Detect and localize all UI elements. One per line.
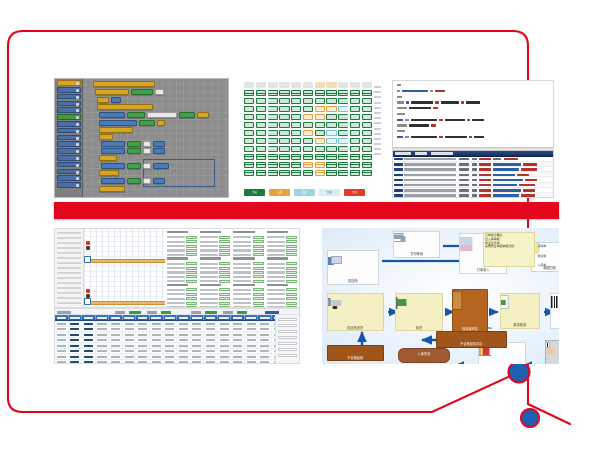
code-block-0[interactable] (93, 81, 155, 87)
palette-block-14[interactable] (57, 175, 81, 181)
table-cell (82, 349, 96, 354)
gantt-row-label-6 (57, 262, 81, 264)
location-cell-r0c6[interactable] (315, 82, 325, 88)
column-header-10[interactable] (191, 315, 205, 320)
detail-row (267, 280, 297, 283)
code-block-27[interactable] (127, 163, 141, 169)
location-cell-r0c4[interactable] (291, 82, 301, 88)
location-cell-r8c4[interactable] (291, 146, 301, 152)
flow-node-unload[interactable]: 卸货 (395, 293, 442, 331)
gantt-node-1[interactable] (84, 298, 91, 305)
location-cell-r1c7[interactable] (326, 90, 336, 96)
location-cell-r7c2[interactable] (268, 138, 278, 144)
location-cell-r7c5[interactable] (303, 138, 313, 144)
location-cell-r4c10[interactable] (362, 114, 372, 120)
blocks-canvas[interactable] (85, 79, 228, 197)
location-cell-r7c10[interactable] (362, 138, 372, 144)
palette-block-9[interactable] (57, 141, 81, 147)
legend-swatch-1: 占用 (269, 189, 290, 196)
column-header-0[interactable] (55, 315, 69, 320)
palette-block-5[interactable] (57, 114, 81, 120)
location-cell-r11c9[interactable] (350, 170, 360, 176)
code-block-17[interactable] (101, 141, 125, 147)
box-icon (452, 290, 464, 312)
truck-icon (327, 294, 346, 313)
location-cell-r2c0[interactable] (244, 98, 254, 104)
location-cell-r5c3[interactable] (279, 122, 289, 128)
code-block-4[interactable] (97, 97, 109, 103)
location-cell-r7c1[interactable] (256, 138, 266, 144)
toolbar-item-2 (129, 311, 141, 314)
location-cell-r3c7[interactable] (326, 106, 336, 112)
location-cell-r10c2[interactable] (268, 162, 278, 168)
gantt-row-label-13 (57, 297, 81, 299)
detail-group-title (200, 231, 221, 233)
code-block-11[interactable] (197, 112, 209, 118)
palette-block-7[interactable] (57, 128, 81, 134)
location-cell-r3c10[interactable] (362, 106, 372, 112)
location-cell-r1c5[interactable] (303, 90, 313, 96)
table-cell (123, 327, 137, 332)
location-cell-r6c5[interactable] (303, 130, 313, 136)
location-cell-r7c6[interactable] (315, 138, 325, 144)
location-cell-r9c2[interactable] (268, 154, 278, 160)
location-cell-r0c8[interactable] (338, 82, 348, 88)
location-cell-r8c1[interactable] (256, 146, 266, 152)
location-cell-r6c3[interactable] (279, 130, 289, 136)
location-cell-r2c9[interactable] (350, 98, 360, 104)
location-cell-r6c7[interactable] (326, 130, 336, 136)
location-cell-r7c3[interactable] (279, 138, 289, 144)
location-cell-r5c1[interactable] (256, 122, 266, 128)
scan-icon (545, 341, 559, 357)
detail-group-3[interactable] (267, 231, 297, 256)
grid-side-label-13 (374, 153, 387, 155)
location-cell-r1c4[interactable] (291, 90, 301, 96)
flow-node-done[interactable]: 入库完成 (398, 348, 450, 363)
location-cell-r2c5[interactable] (303, 98, 313, 104)
location-cell-r1c9[interactable] (350, 90, 360, 96)
location-cell-r11c5[interactable] (303, 170, 313, 176)
flow-node-label[interactable]: 打印粘贴标签 (550, 293, 559, 328)
palette-block-13[interactable] (57, 169, 81, 175)
grid-side-label-4 (374, 107, 387, 109)
grid-side-label-6 (374, 117, 387, 119)
grid-side-label-5 (374, 112, 387, 114)
code-block-35[interactable] (99, 186, 125, 192)
code-block-33[interactable] (143, 178, 151, 184)
code-block-23[interactable] (143, 148, 151, 154)
location-cell-r11c6[interactable] (315, 170, 325, 176)
flow-node-truck[interactable]: 供应商送货 (327, 293, 384, 331)
table-cell (96, 332, 110, 337)
flow-node-printer[interactable]: 打印条码 (393, 231, 440, 258)
column-header-6[interactable] (136, 315, 150, 320)
grid-side-label-2 (374, 96, 387, 98)
location-cell-r9c5[interactable] (303, 154, 313, 160)
location-cell-r8c10[interactable] (362, 146, 372, 152)
table-cell (55, 332, 69, 337)
table-action-button-6[interactable] (278, 354, 297, 357)
detail-group-8[interactable] (167, 284, 197, 308)
location-cell-r11c3[interactable] (279, 170, 289, 176)
detail-group-6[interactable] (233, 257, 263, 282)
location-cell-r11c7[interactable] (326, 170, 336, 176)
log-row[interactable] (393, 193, 553, 197)
location-cell-r9c6[interactable] (315, 154, 325, 160)
location-cell-r3c1[interactable] (256, 106, 266, 112)
location-cell-r9c3[interactable] (279, 154, 289, 160)
table-cell (231, 354, 245, 359)
location-cell-r6c4[interactable] (291, 130, 301, 136)
location-cell-r9c10[interactable] (362, 154, 372, 160)
table-action-button-3[interactable] (278, 336, 297, 339)
location-cell-r5c0[interactable] (244, 122, 254, 128)
code-block-2[interactable] (131, 89, 153, 95)
code-block-1[interactable] (95, 89, 129, 95)
palette-block-6[interactable] (57, 121, 81, 127)
location-cell-r5c10[interactable] (362, 122, 372, 128)
location-cell-r10c6[interactable] (315, 162, 325, 168)
location-cell-r0c3[interactable] (279, 82, 289, 88)
location-cell-r1c1[interactable] (256, 90, 266, 96)
location-cell-r7c4[interactable] (291, 138, 301, 144)
location-cell-r5c7[interactable] (326, 122, 336, 128)
location-cell-r10c0[interactable] (244, 162, 254, 168)
location-cell-r2c2[interactable] (268, 98, 278, 104)
gantt-row-label-0 (57, 232, 81, 234)
palette-block-3[interactable] (57, 101, 81, 107)
log-console-area[interactable] (393, 151, 553, 197)
log-header-seg-1 (415, 152, 427, 155)
location-cell-r11c2[interactable] (268, 170, 278, 176)
flow-node-inspect[interactable]: 检验操作区 (452, 289, 488, 333)
palette-block-11[interactable] (57, 155, 81, 161)
location-cell-r4c2[interactable] (268, 114, 278, 120)
column-header-1[interactable] (69, 315, 83, 320)
location-cell-r8c8[interactable] (338, 146, 348, 152)
column-header-9[interactable] (177, 315, 191, 320)
location-cell-r0c9[interactable] (350, 82, 360, 88)
location-cell-r7c7[interactable] (326, 138, 336, 144)
location-cells[interactable] (244, 82, 372, 176)
location-cell-r4c6[interactable] (315, 114, 325, 120)
column-header-4[interactable] (109, 315, 123, 320)
location-cell-r0c1[interactable] (256, 82, 266, 88)
table-body[interactable] (55, 321, 299, 364)
palette-block-1[interactable] (57, 87, 81, 93)
location-cell-r9c7[interactable] (326, 154, 336, 160)
location-cell-r1c8[interactable] (338, 90, 348, 96)
table-cell (258, 360, 272, 365)
table-action-button-1[interactable] (278, 324, 297, 327)
code-block-22[interactable] (127, 148, 141, 154)
column-header-14[interactable] (245, 315, 259, 320)
column-header-2[interactable] (82, 315, 96, 320)
palette-block-0[interactable] (57, 80, 81, 86)
code-block-20[interactable] (153, 141, 165, 147)
detail-row (167, 271, 197, 274)
legend-swatch-4: 禁用 (344, 189, 365, 196)
table-row[interactable] (55, 360, 299, 365)
location-cell-r0c7[interactable] (326, 82, 336, 88)
detail-group-5[interactable] (200, 257, 230, 282)
detail-group-7[interactable] (267, 257, 297, 282)
location-cell-r7c8[interactable] (338, 138, 348, 144)
column-header-3[interactable] (96, 315, 110, 320)
code-block-6[interactable] (97, 104, 153, 110)
code-block-10[interactable] (179, 112, 195, 118)
location-cell-r6c9[interactable] (350, 130, 360, 136)
location-cell-r2c8[interactable] (338, 98, 348, 104)
location-cell-r6c8[interactable] (338, 130, 348, 136)
code-block-13[interactable] (139, 120, 155, 126)
column-header-7[interactable] (150, 315, 164, 320)
location-cell-r11c8[interactable] (338, 170, 348, 176)
column-header-5[interactable] (123, 315, 137, 320)
location-cell-r5c5[interactable] (303, 122, 313, 128)
location-cell-r10c1[interactable] (256, 162, 266, 168)
location-cell-r10c10[interactable] (362, 162, 372, 168)
table-action-panel[interactable] (275, 315, 299, 363)
location-cell-r9c1[interactable] (256, 154, 266, 160)
location-cell-r4c8[interactable] (338, 114, 348, 120)
code-block-12[interactable] (99, 120, 137, 126)
location-cell-r8c3[interactable] (279, 146, 289, 152)
location-cell-r9c4[interactable] (291, 154, 301, 160)
code-block-29[interactable] (153, 163, 169, 169)
location-cell-r0c0[interactable] (244, 82, 254, 88)
location-cell-r10c9[interactable] (350, 162, 360, 168)
logistics-flowchart-screenshot[interactable]: 供应商打印条码订单录入单据归档供应商送货卸货检验操作区数量核验打印粘贴标签扫描录… (322, 228, 559, 364)
column-header-12[interactable] (218, 315, 232, 320)
location-cell-r8c2[interactable] (268, 146, 278, 152)
detail-group-2[interactable] (233, 231, 263, 256)
flow-node-supplier[interactable]: 供应商 (327, 250, 379, 285)
code-block-31[interactable] (101, 178, 125, 184)
location-cell-r6c2[interactable] (268, 130, 278, 136)
location-cell-r2c10[interactable] (362, 98, 372, 104)
gantt-node-0[interactable] (84, 256, 91, 263)
location-cell-r10c7[interactable] (326, 162, 336, 168)
location-cell-r10c3[interactable] (279, 162, 289, 168)
flow-node-label: 不合格品库 (328, 357, 383, 361)
blocks-editor-screenshot[interactable] (54, 78, 229, 198)
location-cell-r9c8[interactable] (338, 154, 348, 160)
detail-row (167, 293, 197, 296)
location-cell-r4c3[interactable] (279, 114, 289, 120)
location-cell-r2c7[interactable] (326, 98, 336, 104)
location-cell-r0c5[interactable] (303, 82, 313, 88)
location-cell-r11c10[interactable] (362, 170, 372, 176)
location-cell-r1c0[interactable] (244, 90, 254, 96)
location-cell-r2c6[interactable] (315, 98, 325, 104)
location-cell-r11c0[interactable] (244, 170, 254, 176)
palette-block-8[interactable] (57, 135, 81, 141)
code-block-9[interactable] (147, 112, 177, 118)
table-cell (123, 338, 137, 343)
palette-block-2[interactable] (57, 94, 81, 100)
detail-group-11[interactable] (267, 284, 297, 308)
location-cell-r8c0[interactable] (244, 146, 254, 152)
column-header-11[interactable] (204, 315, 218, 320)
location-cell-r3c5[interactable] (303, 106, 313, 112)
detail-group-9[interactable] (200, 284, 230, 308)
location-cell-r4c5[interactable] (303, 114, 313, 120)
location-cell-r9c0[interactable] (244, 154, 254, 160)
location-cell-r3c0[interactable] (244, 106, 254, 112)
location-cell-r3c6[interactable] (315, 106, 325, 112)
location-cell-r8c7[interactable] (326, 146, 336, 152)
inventory-table-screenshot[interactable] (54, 308, 300, 364)
location-cell-r5c8[interactable] (338, 122, 348, 128)
location-cell-r0c10[interactable] (362, 82, 372, 88)
location-cell-r7c0[interactable] (244, 138, 254, 144)
code-block-5[interactable] (111, 97, 121, 103)
detail-group-title (200, 257, 221, 259)
table-cell (109, 349, 123, 354)
location-cell-r8c9[interactable] (350, 146, 360, 152)
location-cell-r10c4[interactable] (291, 162, 301, 168)
code-block-25[interactable] (99, 155, 117, 161)
gantt-detail-board[interactable] (165, 229, 299, 307)
flow-annotation-0: NG (488, 326, 492, 330)
location-cell-r3c3[interactable] (279, 106, 289, 112)
table-cell (69, 321, 83, 326)
grid-side-label-3 (374, 102, 387, 104)
column-header-8[interactable] (164, 315, 178, 320)
location-cell-r8c6[interactable] (315, 146, 325, 152)
palette-block-4[interactable] (57, 107, 81, 113)
location-cell-r6c1[interactable] (256, 130, 266, 136)
location-cell-r8c5[interactable] (303, 146, 313, 152)
flow-node-scan[interactable]: 扫描录入 (545, 340, 559, 364)
location-grid-screenshot[interactable]: 空闲占用锁定预留禁用 (240, 80, 388, 198)
detail-row (167, 297, 197, 300)
code-block-30[interactable] (99, 170, 119, 176)
flow-node-reject_store[interactable]: 不合格品库 (327, 345, 384, 361)
flow-node-count[interactable]: 数量核验 (500, 293, 540, 328)
location-cell-r6c6[interactable] (315, 130, 325, 136)
code-block-26[interactable] (101, 163, 125, 169)
code-editor-area[interactable] (393, 81, 553, 148)
gantt-row-label-2 (57, 242, 81, 244)
detail-row (167, 288, 197, 291)
location-cell-r1c3[interactable] (279, 90, 289, 96)
table-cell (204, 321, 218, 326)
detail-row (267, 293, 297, 296)
blocks-palette[interactable] (55, 79, 83, 197)
table-action-button-2[interactable] (278, 330, 297, 333)
detail-group-1[interactable] (200, 231, 230, 256)
location-cell-r3c4[interactable] (291, 106, 301, 112)
flow-node-label: 打印粘贴标签 (551, 324, 559, 328)
location-cell-r10c5[interactable] (303, 162, 313, 168)
gantt-schedule-screenshot[interactable] (54, 228, 300, 308)
location-cell-r5c2[interactable] (268, 122, 278, 128)
location-cell-r1c6[interactable] (315, 90, 325, 96)
location-cell-r7c9[interactable] (350, 138, 360, 144)
code-line-4 (397, 107, 549, 109)
table-action-button-5[interactable] (278, 348, 297, 351)
location-cell-r6c10[interactable] (362, 130, 372, 136)
location-cell-r5c4[interactable] (291, 122, 301, 128)
code-and-log-screenshot[interactable] (392, 80, 554, 198)
location-cell-r2c3[interactable] (279, 98, 289, 104)
detail-row (200, 249, 230, 252)
code-block-15[interactable] (99, 127, 133, 133)
location-cell-r2c1[interactable] (256, 98, 266, 104)
code-block-19[interactable] (143, 141, 151, 147)
table-cell (96, 321, 110, 326)
code-block-21[interactable] (101, 148, 125, 154)
location-cell-r4c9[interactable] (350, 114, 360, 120)
flow-node-reject_area[interactable]: 不合格品暂存区 (436, 331, 507, 347)
location-cell-r4c4[interactable] (291, 114, 301, 120)
code-block-28[interactable] (143, 163, 151, 169)
location-cell-r9c9[interactable] (350, 154, 360, 160)
table-cell (177, 354, 191, 359)
code-block-3[interactable] (155, 89, 164, 95)
location-cell-r11c1[interactable] (256, 170, 266, 176)
gantt-marker-2 (86, 289, 90, 293)
location-cell-r1c2[interactable] (268, 90, 278, 96)
palette-block-10[interactable] (57, 148, 81, 154)
detail-row (167, 262, 197, 265)
column-header-13[interactable] (231, 315, 245, 320)
table-action-button-4[interactable] (278, 342, 297, 345)
location-cell-r5c9[interactable] (350, 122, 360, 128)
palette-block-15[interactable] (57, 182, 81, 188)
gantt-timeline[interactable] (84, 229, 165, 307)
column-header-15[interactable] (258, 315, 272, 320)
palette-block-12[interactable] (57, 162, 81, 168)
legend-swatch-0: 空闲 (244, 189, 265, 196)
code-block-14[interactable] (157, 120, 165, 126)
location-cell-r4c1[interactable] (256, 114, 266, 120)
log-rows[interactable] (393, 157, 553, 197)
code-block-8[interactable] (127, 112, 145, 118)
location-cell-r0c2[interactable] (268, 82, 278, 88)
gantt-resource-list[interactable] (55, 229, 84, 307)
code-block-34[interactable] (153, 178, 165, 184)
code-block-7[interactable] (99, 112, 125, 118)
location-cell-r11c4[interactable] (291, 170, 301, 176)
code-block-24[interactable] (153, 148, 165, 154)
location-cell-r4c0[interactable] (244, 114, 254, 120)
detail-group-4[interactable] (167, 257, 197, 282)
detail-group-title (267, 231, 288, 233)
code-block-32[interactable] (127, 178, 141, 184)
location-cell-r3c9[interactable] (350, 106, 360, 112)
table-cell (96, 327, 110, 332)
code-block-18[interactable] (127, 141, 141, 147)
location-cell-r4c7[interactable] (326, 114, 336, 120)
location-cell-r6c0[interactable] (244, 130, 254, 136)
location-cell-r3c2[interactable] (268, 106, 278, 112)
legend-swatch-2: 锁定 (294, 189, 315, 196)
location-cell-r10c8[interactable] (338, 162, 348, 168)
location-cell-r5c6[interactable] (315, 122, 325, 128)
detail-group-10[interactable] (233, 284, 263, 308)
location-cell-r2c4[interactable] (291, 98, 301, 104)
table-action-button-0[interactable] (278, 318, 297, 321)
location-cell-r3c8[interactable] (338, 106, 348, 112)
detail-group-0[interactable] (167, 231, 197, 256)
location-cell-r1c10[interactable] (362, 90, 372, 96)
table-cell (150, 338, 164, 343)
code-block-16[interactable] (99, 134, 113, 140)
